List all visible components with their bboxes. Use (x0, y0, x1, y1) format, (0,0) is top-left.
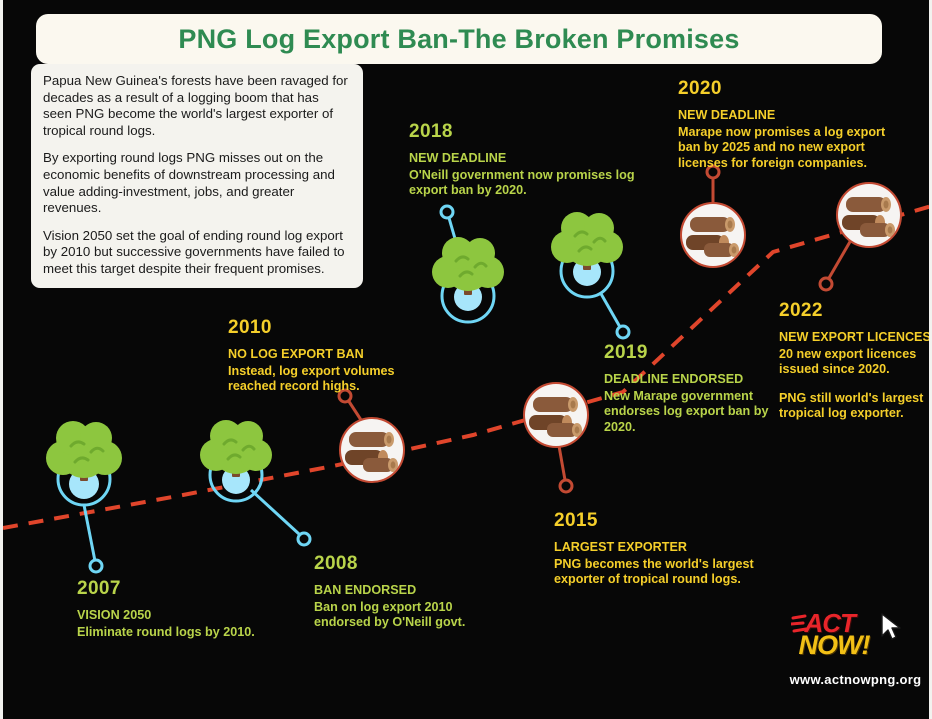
timeline-event-2007: 2007 VISION 2050 Eliminate round logs by… (77, 578, 292, 640)
event-headline: NEW EXPORT LICENCES (779, 330, 932, 346)
website-url[interactable]: www.actnowpng.org (783, 672, 928, 687)
event-headline: NEW DEADLINE (409, 151, 639, 167)
marker-2020-log[interactable] (682, 166, 744, 266)
timeline-event-2019: 2019 DEADLINE ENDORSED New Marape govern… (604, 342, 784, 435)
event-year: 2019 (604, 342, 784, 364)
tree-canopy-icon (432, 237, 504, 291)
marker-2007-tree[interactable] (46, 421, 122, 572)
event-body-secondary: PNG still world's largest tropical log e… (779, 391, 932, 422)
event-body: O'Neill government now promises log expo… (409, 168, 639, 199)
timeline-event-2022: 2022 NEW EXPORT LICENCES 20 new export l… (779, 300, 932, 422)
logo-now-text: NOW! (799, 630, 870, 661)
event-headline: VISION 2050 (77, 608, 292, 624)
timeline-event-2018: 2018 NEW DEADLINE O'Neill government now… (409, 121, 639, 199)
log-stack-icon (341, 419, 403, 481)
timeline-event-2010: 2010 NO LOG EXPORT BAN Instead, log expo… (228, 317, 438, 395)
marker-2015-log[interactable] (525, 384, 587, 492)
event-headline: NEW DEADLINE (678, 108, 903, 124)
infographic-canvas: PNG Log Export Ban-The Broken Promises P… (0, 0, 932, 719)
log-stack-icon (682, 204, 744, 266)
event-body: Ban on log export 2010 endorsed by O'Nei… (314, 600, 494, 631)
marker-2019-tree[interactable] (551, 212, 629, 338)
event-year: 2020 (678, 78, 903, 100)
logo-block: ACT NOW! www.actnowpng.org (783, 608, 928, 687)
event-headline: DEADLINE ENDORSED (604, 372, 784, 388)
marker-2018-tree[interactable] (432, 206, 504, 322)
marker-2008-tree[interactable] (200, 420, 310, 545)
act-now-logo[interactable]: ACT NOW! (791, 608, 921, 666)
event-headline: LARGEST EXPORTER (554, 540, 754, 556)
tree-canopy-icon (46, 421, 122, 478)
event-body: Marape now promises a log export ban by … (678, 125, 903, 172)
event-body: 20 new export licences issued since 2020… (779, 347, 932, 378)
event-year: 2018 (409, 121, 639, 143)
event-year: 2010 (228, 317, 438, 339)
event-year: 2015 (554, 510, 754, 532)
timeline-event-2020: 2020 NEW DEADLINE Marape now promises a … (678, 78, 903, 171)
event-body: New Marape government endorses log expor… (604, 389, 784, 436)
event-year: 2007 (77, 578, 292, 600)
event-year: 2008 (314, 553, 494, 575)
log-stack-icon (525, 384, 587, 446)
marker-2022-log[interactable] (820, 184, 900, 290)
event-body: Instead, log export volumes reached reco… (228, 364, 438, 395)
log-stack-icon (838, 184, 900, 246)
tree-canopy-icon (551, 212, 623, 266)
cursor-arrow-icon (877, 612, 907, 642)
event-headline: BAN ENDORSED (314, 583, 494, 599)
timeline-event-2008: 2008 BAN ENDORSED Ban on log export 2010… (314, 553, 494, 631)
event-year: 2022 (779, 300, 932, 322)
event-body: Eliminate round logs by 2010. (77, 625, 292, 641)
event-headline: NO LOG EXPORT BAN (228, 347, 438, 363)
marker-2010-log[interactable] (339, 390, 403, 481)
tree-canopy-icon (200, 420, 272, 474)
timeline-event-2015: 2015 LARGEST EXPORTER PNG becomes the wo… (554, 510, 754, 588)
event-body: PNG becomes the world's largest exporter… (554, 557, 754, 588)
